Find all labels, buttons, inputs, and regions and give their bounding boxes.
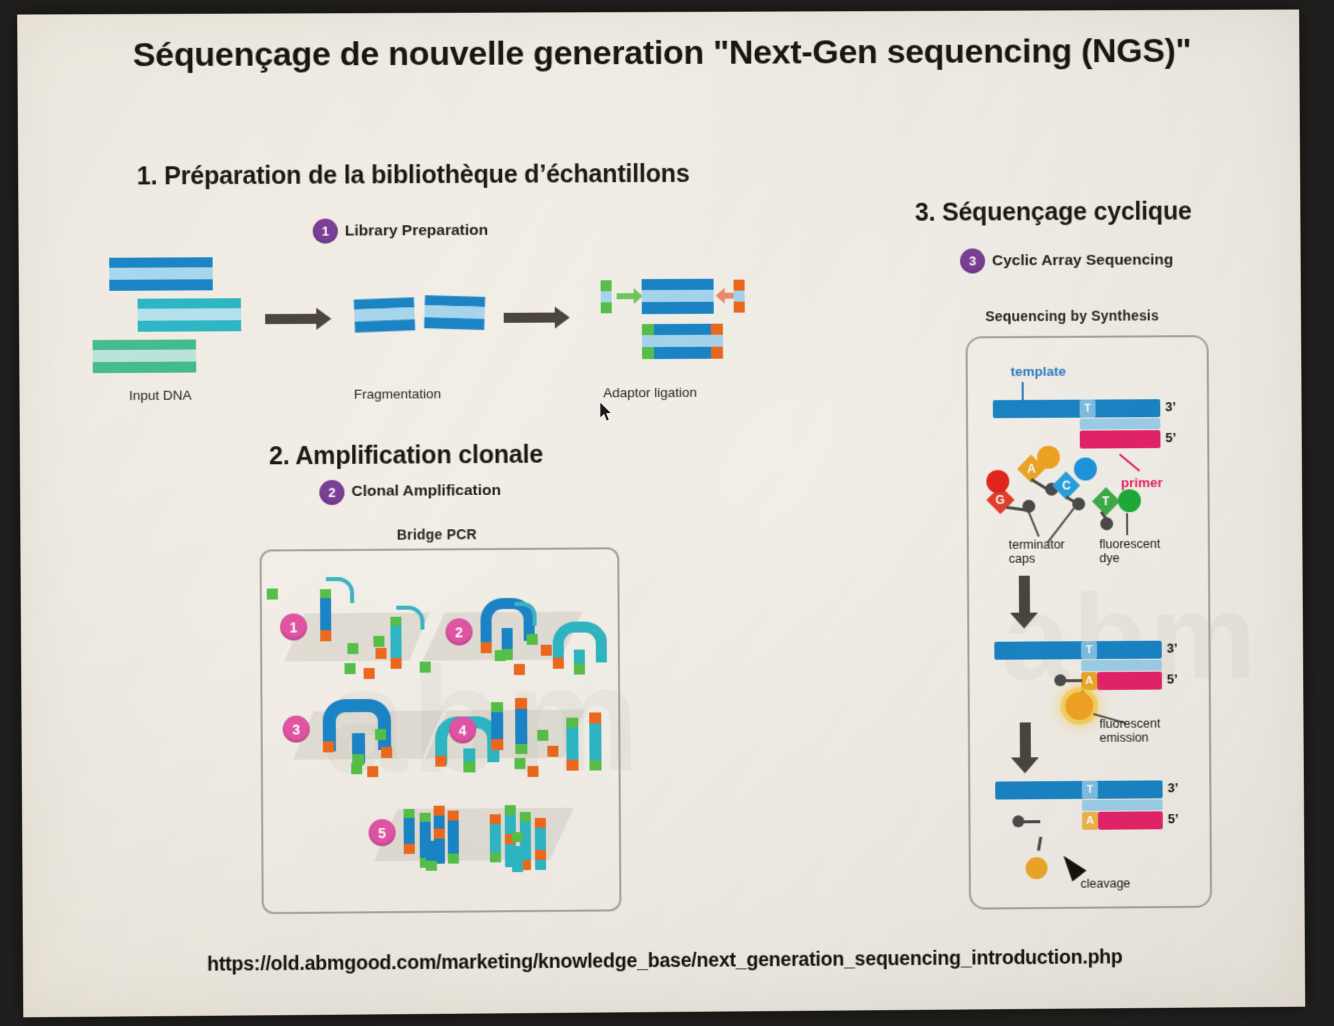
primer-strand <box>1097 672 1162 690</box>
ligated-product <box>642 324 723 359</box>
bridge-step-badge-5: 5 <box>369 819 396 846</box>
input-dna-fragment-3 <box>93 339 197 373</box>
bridge-foot-orange <box>553 658 564 669</box>
strand-cap-orange <box>589 712 601 723</box>
terminator-caps-leader <box>1028 510 1040 536</box>
screenshot-root: abm abm Séquençage de nouvelle generatio… <box>0 0 1334 1026</box>
complement-lightblue <box>1081 660 1162 672</box>
lawn-primer <box>351 763 362 774</box>
five-prime-label: 5’ <box>1168 811 1179 826</box>
primer-strand <box>1098 811 1163 829</box>
terminator-caps-line2: caps <box>1009 552 1035 566</box>
strand-cap-green <box>589 760 601 770</box>
primer-label: primer <box>1121 475 1163 490</box>
bridge-foot-orange <box>435 756 446 767</box>
section1-badge: 1 <box>313 219 338 244</box>
bridge-foot-green <box>463 761 475 772</box>
input-dna-fragment-2 <box>138 298 242 332</box>
three-prime-label: 3’ <box>1167 641 1178 656</box>
template-strand <box>995 780 1162 799</box>
lawn-primer <box>527 634 538 645</box>
step-arrow-down-2 <box>1020 722 1031 758</box>
fluorescent-dye-G <box>986 470 1009 493</box>
fluorescent-emission-label: fluorescent emission <box>1099 717 1160 745</box>
lawn-primer-orange <box>527 766 538 777</box>
fluorescent-dye-line2: dye <box>1099 551 1119 565</box>
template-strand <box>993 399 1160 418</box>
bridge-pcr-panel: 1 2 <box>260 547 622 914</box>
bridge-step-badge-4: 4 <box>449 716 476 743</box>
adaptor-right <box>734 280 745 313</box>
template-base-T: T <box>1082 781 1098 799</box>
terminator-cap-T <box>1100 517 1113 530</box>
lawn-primer-orange <box>547 746 558 757</box>
incorporated-base-A: A <box>1081 672 1097 690</box>
sbs-title: Sequencing by Synthesis <box>985 307 1159 324</box>
bridge-foot-green <box>574 664 585 675</box>
slide-photo: abm abm Séquençage de nouvelle generatio… <box>17 9 1305 1017</box>
section3-badge: 3 <box>960 248 985 273</box>
cluster-teal <box>490 802 561 873</box>
strand-cap-green <box>566 718 578 728</box>
strand-cap-orange <box>566 760 578 771</box>
adaptor-dot <box>267 588 278 599</box>
caption-adaptor-ligation: Adaptor ligation <box>603 385 697 401</box>
lawn-primer-orange <box>364 668 375 679</box>
source-url[interactable]: https://old.abmgood.com/marketing/knowle… <box>23 945 1305 978</box>
lawn-primer <box>375 729 386 740</box>
fluorescent-burst-icon <box>1065 692 1093 720</box>
lawn-primer-orange <box>541 645 552 656</box>
ligated-left-adaptor <box>642 324 654 359</box>
bridge-step-badge-3: 3 <box>283 715 310 742</box>
nucleotide-T: T <box>1092 487 1120 515</box>
strand-cap-green <box>491 702 503 712</box>
strand-cap-orange <box>491 739 503 750</box>
cluster-blue <box>403 800 474 871</box>
arrow-adaptor-ligation <box>504 313 556 323</box>
lawn-primer-orange <box>375 648 386 659</box>
hybridization-curve-icon <box>587 627 607 649</box>
section3-heading: 3. Séquençage cyclique <box>915 197 1192 227</box>
lawn-primer <box>373 636 384 647</box>
fluorescent-dye-leader <box>1126 513 1128 535</box>
adaptor-right-arrow-head <box>716 288 725 304</box>
lawn-primer <box>514 758 525 769</box>
mouse-pointer <box>600 402 614 422</box>
ligation-fragment <box>642 279 714 314</box>
bridge-pcr-title: Bridge PCR <box>397 526 477 543</box>
fluorescent-dye-C <box>1074 457 1097 480</box>
three-prime-label: 3’ <box>1168 780 1179 795</box>
arrow-fragmentation <box>265 314 317 324</box>
hybridization-curve-icon <box>396 606 424 630</box>
terminator-stem <box>1064 679 1082 682</box>
bridge-foot-orange <box>481 642 492 653</box>
complement-lightblue <box>1082 799 1163 811</box>
caption-fragmentation: Fragmentation <box>354 386 441 402</box>
caption-input-dna: Input DNA <box>129 388 192 403</box>
section3-badge-label: Cyclic Array Sequencing <box>992 251 1173 270</box>
fluorescent-dye-line1: fluorescent <box>1099 537 1160 551</box>
lawn-primer-orange <box>381 747 392 758</box>
cleaved-fluorescent-dye <box>1026 857 1048 879</box>
section1-heading: 1. Préparation de la bibliothèque d’écha… <box>137 160 690 192</box>
cleavage-label: cleavage <box>1080 876 1130 890</box>
ligated-insert <box>654 324 711 359</box>
strand-bottom-cap <box>320 630 331 641</box>
cleaved-dye-stem <box>1037 837 1042 851</box>
lawn-primer <box>344 663 355 674</box>
five-prime-label: 5’ <box>1167 671 1178 686</box>
bridge-step-badge-2: 2 <box>445 618 472 645</box>
lawn-primer <box>537 730 548 741</box>
primer-strand <box>1080 430 1161 448</box>
adaptor-left <box>601 280 612 313</box>
fragment-b <box>424 295 485 330</box>
complement-lightblue <box>1080 418 1161 429</box>
strand-cap-orange <box>515 698 527 709</box>
fluorescent-emission-line2: emission <box>1099 731 1148 745</box>
fluorescent-emission-line1: fluorescent <box>1099 717 1160 731</box>
template-label: template <box>1011 364 1066 379</box>
adaptor-left-arrow <box>617 293 635 299</box>
template-leader-line <box>1022 382 1024 400</box>
three-prime-label: 3’ <box>1165 399 1176 414</box>
bridge-foot-orange <box>323 741 334 752</box>
five-prime-label: 5’ <box>1165 430 1176 445</box>
cleaved-stem <box>1022 820 1040 823</box>
section2-heading: 2. Amplification clonale <box>269 441 543 472</box>
fluorescent-dye-T <box>1118 489 1141 512</box>
fragment-a <box>354 297 415 332</box>
lawn-primer <box>495 650 506 661</box>
lawn-primer-orange <box>367 766 378 777</box>
ligated-right-adaptor <box>711 324 723 359</box>
hybridization-curve-icon <box>326 577 354 603</box>
section2-badge-label: Clonal Amplification <box>351 482 501 501</box>
sequencing-by-synthesis-panel: template T 3’ 5’ primer A G C <box>966 335 1213 910</box>
step-arrow-down-1 <box>1019 576 1030 614</box>
terminator-caps-label: terminator caps <box>1009 537 1065 565</box>
strand-cap-green <box>515 744 527 754</box>
template-base-T: T <box>1081 641 1097 659</box>
fluorescent-dye-A <box>1037 446 1060 469</box>
slide-title: Séquençage de nouvelle generation "Next-… <box>41 32 1281 76</box>
input-dna-fragment-1 <box>109 257 213 291</box>
hybridization-curve-icon <box>514 602 536 626</box>
lawn-primer-orange <box>514 664 525 675</box>
section2-badge: 2 <box>319 480 344 505</box>
template-base-T: T <box>1080 400 1096 418</box>
template-strand <box>994 641 1161 660</box>
lawn-primer <box>347 643 358 654</box>
strand-bottom-cap <box>391 658 402 669</box>
primer-leader-line <box>1119 453 1140 471</box>
bridge-step-badge-1: 1 <box>280 613 307 640</box>
lawn-primer <box>420 662 431 673</box>
fluorescent-dye-label: fluorescent dye <box>1099 537 1160 565</box>
terminator-caps-line1: terminator <box>1009 537 1065 551</box>
section1-badge-label: Library Preparation <box>345 222 488 241</box>
incorporated-base-A: A <box>1082 812 1098 830</box>
